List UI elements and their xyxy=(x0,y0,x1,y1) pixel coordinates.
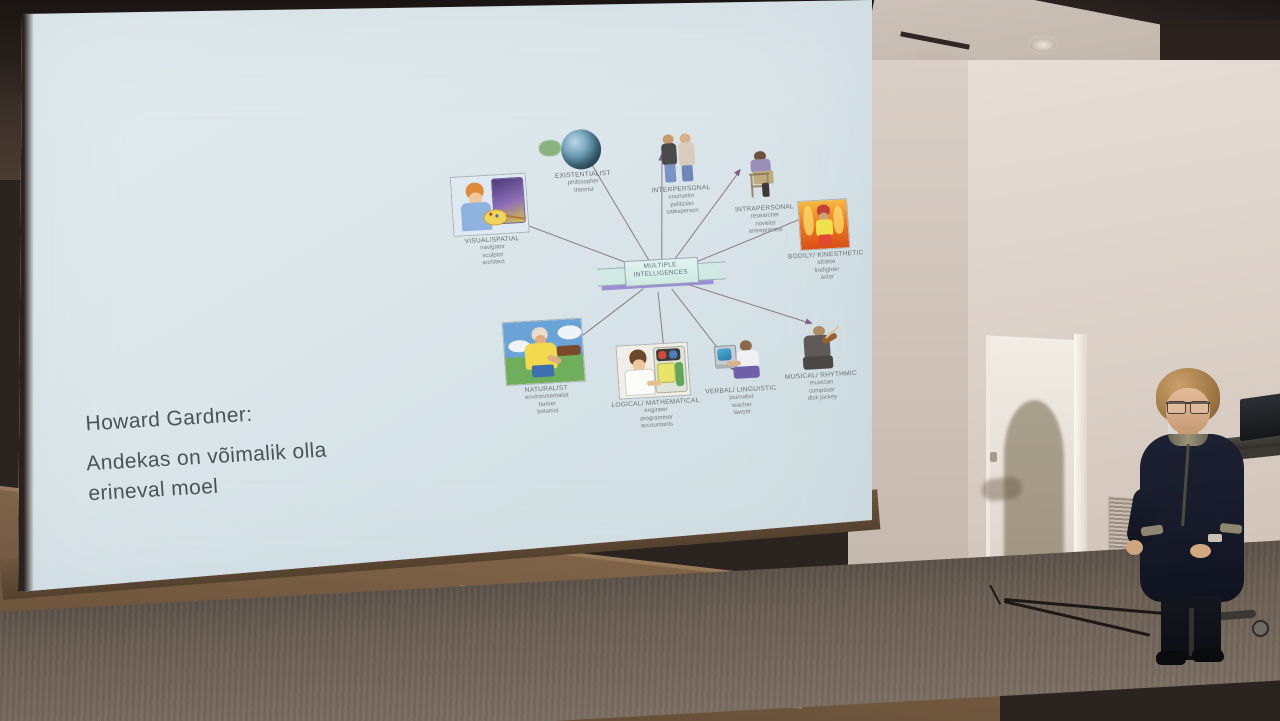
center-node-multiple-intelligences: MULTIPLE INTELLIGENCES xyxy=(612,256,710,287)
node-existentialist: EXISTENTIALIST philosopher theorist xyxy=(531,127,633,198)
presenter-leg-gap xyxy=(1189,608,1194,656)
node-logical-mathematical: LOGICAL/ MATHEMATICAL engineer programme… xyxy=(604,341,706,433)
presenter-shoe-right xyxy=(1192,648,1224,662)
projection-screen: Howard Gardner: Andekas on võimalik olla… xyxy=(0,0,872,600)
earth-globe-icon xyxy=(560,128,603,170)
glasses-lens-left xyxy=(1167,401,1186,414)
door-handle[interactable] xyxy=(990,452,997,462)
slide-body-line-1: Andekas on võimalik olla xyxy=(86,439,328,477)
person-at-computer-icon xyxy=(711,337,766,386)
presenter-hand-left xyxy=(1126,540,1143,555)
two-people-standing-icon xyxy=(654,133,703,186)
presenter xyxy=(1128,368,1258,658)
arrow-to-musical-rhythmic xyxy=(681,282,811,324)
node-naturalist: NATURALIST environmentalist farmer botan… xyxy=(490,317,600,420)
firefighter-in-flames-icon xyxy=(797,198,850,251)
projected-slide-surface: Howard Gardner: Andekas on võimalik olla… xyxy=(0,0,872,600)
slide-body-line-2: erineval moel xyxy=(88,475,220,506)
node-musical-rhythmic: MUSICAL/ RHYTHMIC musician composer disk… xyxy=(777,324,864,405)
node-verbal-linguistic: VERBAL/ LINGUISTIC journalist teacher la… xyxy=(695,336,784,419)
person-on-stool-icon xyxy=(740,150,785,204)
node-bodily-kinesthetic: BODILY/ KINESTHETIC athlete firefighter … xyxy=(782,197,868,284)
presenter-shoe-left xyxy=(1156,651,1186,665)
screenshot-root: Howard Gardner: Andekas on võimalik olla… xyxy=(0,0,1280,721)
node-visual-spatial: VISUAL/SPATIAL navigator sculptor archit… xyxy=(436,172,546,271)
multiple-intelligences-diagram: MULTIPLE INTELLIGENCES xyxy=(418,105,882,489)
violinist-icon xyxy=(795,325,844,372)
painter-at-easel-icon xyxy=(450,173,530,237)
downlight-icon xyxy=(1030,38,1056,52)
scientist-at-control-panel-icon xyxy=(616,342,692,400)
presenter-wristwatch xyxy=(1208,534,1222,542)
screen-left-shadow xyxy=(0,0,34,600)
presenter-hand-right xyxy=(1190,544,1211,558)
node-interpersonal: INTERPERSONAL counselor politician sales… xyxy=(631,131,728,219)
slide-speaker-heading: Howard Gardner: xyxy=(85,403,253,437)
glasses-lens-right xyxy=(1190,401,1209,414)
farmer-planting-icon xyxy=(502,318,586,386)
projection-screen-area: Howard Gardner: Andekas on võimalik olla… xyxy=(0,0,880,660)
